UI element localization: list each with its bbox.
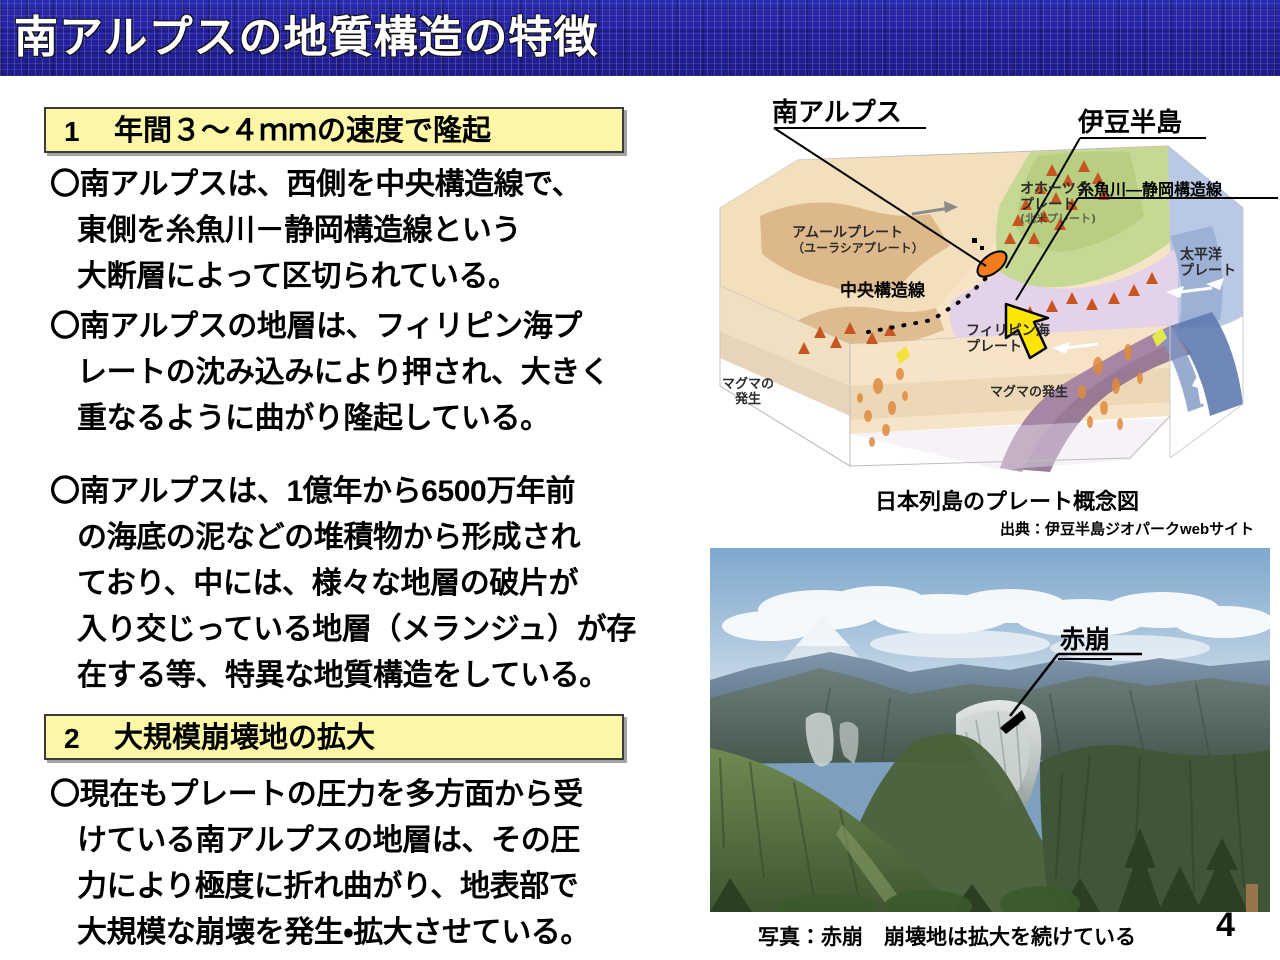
plate-label-philippine-line2: プレート bbox=[966, 340, 1050, 356]
map-label-magma-right: マグマの発生 bbox=[990, 386, 1068, 401]
page-number: 4 bbox=[1216, 906, 1235, 945]
plate-label-okhotsk-line3: (北米プレート) bbox=[1020, 213, 1096, 225]
plate-label-amur-line1: アムールプレート bbox=[792, 226, 924, 242]
section-number-2: 2 bbox=[64, 722, 80, 756]
map-label-magma-left: マグマの 発生 bbox=[722, 378, 774, 407]
text-line: 重なるように曲がり隆起している。 bbox=[50, 396, 650, 442]
text-line: の海底の泥などの堆積物から形成され bbox=[50, 515, 650, 561]
text-line: 〇南アルプスは、1億年から6500万年前 bbox=[50, 469, 650, 515]
map-label-median-tectonic-line: 中央構造線 bbox=[840, 282, 925, 301]
map-label-magma-left-line1: マグマの bbox=[722, 378, 774, 393]
right-content-column: 南アルプス 伊豆半島 糸魚川—静岡構造線 アムールプレート （ユーラシアプレート… bbox=[660, 76, 1280, 960]
plate-tectonics-diagram: 南アルプス 伊豆半島 糸魚川—静岡構造線 アムールプレート （ユーラシアプレート… bbox=[700, 86, 1280, 526]
diagram-source: 出典：伊豆半島ジオパークwebサイト bbox=[1000, 518, 1254, 539]
plate-label-philippine-line1: フィリピン海 bbox=[966, 324, 1050, 340]
plate-label-pacific: 太平洋 プレート bbox=[1180, 248, 1236, 279]
paragraph-1-1: 〇南アルプスは、西側を中央構造線で、 東側を糸魚川－静岡構造線という 大断層によ… bbox=[50, 162, 650, 300]
slide-title-bar: 南アルプスの地質構造の特徴 bbox=[0, 0, 1280, 76]
text-line: 大断層によって区切られている。 bbox=[50, 254, 650, 300]
section-number-1: 1 bbox=[64, 115, 80, 149]
diagram-caption: 日本列島のプレート概念図 bbox=[875, 484, 1139, 516]
plate-label-philippine-sea: フィリピン海 プレート bbox=[966, 324, 1050, 355]
section-heading-1: 1 年間３～４ｍｍの速度で隆起 bbox=[44, 107, 624, 153]
text-line: 東側を糸魚川－静岡構造線という bbox=[50, 208, 650, 254]
photo-annotation-akakuzure: 赤崩 bbox=[1058, 620, 1112, 660]
paragraph-1-3: 〇南アルプスは、1億年から6500万年前 の海底の泥などの堆積物から形成され て… bbox=[50, 469, 650, 699]
callout-label-minami-alps: 南アルプス bbox=[772, 92, 902, 129]
left-content-column: 1 年間３～４ｍｍの速度で隆起 〇南アルプスは、西側を中央構造線で、 東側を糸魚… bbox=[0, 76, 660, 960]
section-heading-2: 2 大規模崩壊地の拡大 bbox=[44, 714, 624, 760]
text-line: ており、中には、様々な地層の破片が bbox=[50, 561, 650, 607]
paragraph-2-1: 〇現在もプレートの圧力を多方面から受 けている南アルプスの地層は、その圧 力によ… bbox=[50, 772, 650, 956]
text-line: 大規模な崩壊を発生・拡大させている。 bbox=[50, 910, 650, 956]
landslide-photo-graphic bbox=[710, 548, 1270, 912]
plate-label-amur-line2: （ユーラシアプレート） bbox=[792, 242, 924, 255]
map-label-magma-left-line2: 発生 bbox=[722, 393, 774, 408]
plate-label-amur: アムールプレート （ユーラシアプレート） bbox=[792, 226, 924, 255]
plate-label-pacific-line2: プレート bbox=[1180, 264, 1236, 280]
text-line: 〇現在もプレートの圧力を多方面から受 bbox=[50, 772, 650, 818]
text-line: 〇南アルプスの地層は、フィリピン海プ bbox=[50, 304, 650, 350]
text-line: 力により極度に折れ曲がり、地表部で bbox=[50, 864, 650, 910]
text-line: 〇南アルプスは、西側を中央構造線で、 bbox=[50, 162, 650, 208]
plate-label-okhotsk-line2: プレート bbox=[1020, 198, 1096, 214]
photo-caption: 写真：赤崩 崩壊地は拡大を続けている bbox=[758, 921, 1136, 951]
text-line: けている南アルプスの地層は、その圧 bbox=[50, 818, 650, 864]
section-title-1: 年間３～４ｍｍの速度で隆起 bbox=[114, 113, 491, 149]
page-title: 南アルプスの地質構造の特徴 bbox=[14, 6, 599, 70]
text-line: 入り交じっている地層（メランジュ）が存 bbox=[50, 607, 650, 653]
callout-label-itoigawa-shizuoka-line: 糸魚川—静岡構造線 bbox=[1078, 176, 1222, 200]
plate-label-pacific-line1: 太平洋 bbox=[1180, 248, 1236, 264]
plate-diagram-graphic bbox=[700, 86, 1280, 526]
plate-label-okhotsk: オホーツク プレート (北米プレート) bbox=[1020, 182, 1096, 226]
text-line: レートの沈み込みにより押され、大きく bbox=[50, 350, 650, 396]
paragraph-1-2: 〇南アルプスの地層は、フィリピン海プ レートの沈み込みにより押され、大きく 重な… bbox=[50, 304, 650, 442]
text-line: 在する等、特異な地質構造をしている。 bbox=[50, 653, 650, 699]
landslide-photo: 赤崩 bbox=[710, 548, 1270, 912]
plate-label-okhotsk-line1: オホーツク bbox=[1020, 182, 1096, 198]
callout-label-izu-peninsula: 伊豆半島 bbox=[1078, 102, 1182, 139]
section-title-2: 大規模崩壊地の拡大 bbox=[114, 720, 375, 756]
